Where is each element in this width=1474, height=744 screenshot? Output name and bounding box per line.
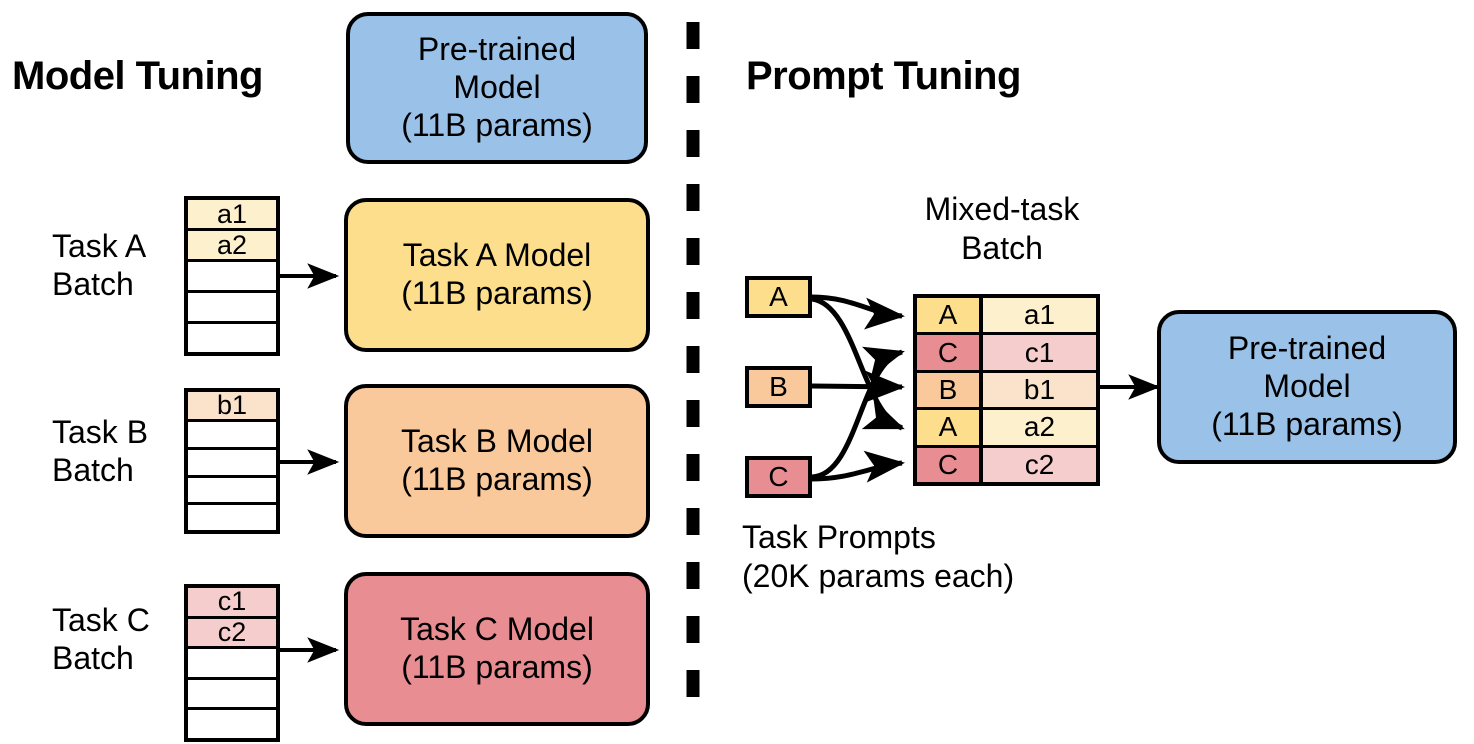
task-c-batch-cell: c2 — [188, 619, 276, 650]
mixed-task-batch-row: C c2 — [917, 448, 1096, 482]
task-a-batch-cell — [188, 293, 276, 324]
task-b-model-box: Task B Model (11B params) — [344, 384, 650, 538]
task-c-batch-cell — [188, 680, 276, 711]
task-b-batch-stack: b1 — [184, 388, 280, 534]
task-b-batch-cell — [188, 505, 276, 530]
task-c-batch-cell — [188, 649, 276, 680]
task-prompt-chip-a-label: A — [769, 283, 788, 311]
task-c-batch-cell: c1 — [188, 588, 276, 619]
mixed-task-batch-row-tag: A — [917, 298, 983, 332]
mixed-task-batch-row-tag: C — [917, 335, 983, 369]
task-c-batch-label-line-2: Batch — [52, 640, 150, 678]
task-b-batch-label-line-2: Batch — [52, 452, 148, 490]
task-b-batch-cell: b1 — [188, 392, 276, 422]
mixed-task-batch-caption-line-2: Batch — [887, 229, 1117, 268]
left-pretrained-model-line-3: (11B params) — [401, 107, 592, 145]
task-b-batch-label-line-1: Task B — [52, 414, 148, 452]
arrow-prompt-c-to-row2 — [812, 352, 902, 477]
arrow-prompt-a-to-row4 — [812, 299, 902, 428]
task-b-batch-cell — [188, 450, 276, 478]
mixed-task-batch-caption: Mixed-task Batch — [887, 190, 1117, 268]
task-c-batch-label-line-1: Task C — [52, 602, 150, 640]
mixed-task-batch-table: A a1 C c1 B b1 A a2 C c2 — [913, 294, 1100, 486]
right-pretrained-model-box: Pre-trained Model (11B params) — [1157, 310, 1457, 464]
task-a-model-line-1: Task A Model — [403, 237, 592, 275]
task-b-batch-cell — [188, 422, 276, 450]
mixed-task-batch-row: A a1 — [917, 298, 1096, 335]
mixed-task-batch-row-value: a1 — [983, 298, 1096, 332]
task-a-model-box: Task A Model (11B params) — [344, 198, 650, 352]
task-prompt-chip-c[interactable]: C — [745, 456, 812, 498]
task-a-batch-label-line-1: Task A — [52, 228, 146, 266]
mixed-task-batch-row-value: a2 — [983, 410, 1096, 444]
mixed-task-batch-caption-line-1: Mixed-task — [887, 190, 1117, 229]
mixed-task-batch-row-tag: A — [917, 410, 983, 444]
task-c-batch-stack: c1 c2 — [184, 584, 280, 742]
task-a-model-line-2: (11B params) — [401, 275, 592, 313]
task-prompts-caption-line-1: Task Prompts — [742, 518, 1014, 557]
mixed-task-batch-row: B b1 — [917, 373, 1096, 410]
left-pretrained-model-line-1: Pre-trained — [418, 31, 576, 69]
right-pretrained-model-line-3: (11B params) — [1211, 406, 1402, 444]
model-tuning-heading: Model Tuning — [12, 56, 263, 96]
task-prompt-chip-c-label: C — [768, 463, 788, 491]
task-prompts-caption: Task Prompts (20K params each) — [742, 518, 1014, 596]
task-c-batch-label: Task C Batch — [52, 602, 150, 678]
task-a-batch-label-line-2: Batch — [52, 266, 146, 304]
task-a-batch-stack: a1 a2 — [184, 196, 280, 356]
mixed-task-batch-row: A a2 — [917, 410, 1096, 447]
arrow-prompt-c-to-row5 — [812, 463, 902, 479]
left-pretrained-model-box: Pre-trained Model (11B params) — [346, 12, 648, 164]
task-a-batch-label: Task A Batch — [52, 228, 146, 304]
task-b-batch-label: Task B Batch — [52, 414, 148, 490]
task-b-batch-cell — [188, 478, 276, 506]
mixed-task-batch-row-value: c2 — [983, 448, 1096, 482]
mixed-task-batch-row-tag: B — [917, 373, 983, 407]
task-a-batch-cell — [188, 324, 276, 352]
task-prompts-caption-line-2: (20K params each) — [742, 557, 1014, 596]
mixed-task-batch-row: C c1 — [917, 335, 1096, 372]
left-pretrained-model-line-2: Model — [453, 69, 540, 107]
task-prompt-chip-a[interactable]: A — [745, 276, 812, 318]
task-c-model-box: Task C Model (11B params) — [344, 572, 650, 726]
task-prompt-chip-b-label: B — [769, 373, 788, 401]
task-b-model-line-1: Task B Model — [401, 423, 593, 461]
diagram-canvas: Model Tuning Pre-trained Model (11B para… — [0, 0, 1474, 744]
task-b-model-line-2: (11B params) — [401, 461, 592, 499]
task-c-batch-cell — [188, 710, 276, 738]
task-a-batch-cell: a1 — [188, 200, 276, 231]
task-a-batch-cell — [188, 262, 276, 293]
prompt-tuning-heading: Prompt Tuning — [746, 56, 1021, 96]
mixed-task-batch-row-value: b1 — [983, 373, 1096, 407]
right-pretrained-model-line-2: Model — [1263, 368, 1350, 406]
arrow-prompt-a-to-row1 — [812, 297, 902, 316]
mixed-task-batch-row-tag: C — [917, 448, 983, 482]
arrow-prompt-b-to-row3 — [812, 386, 902, 387]
task-c-model-line-1: Task C Model — [400, 611, 594, 649]
right-pretrained-model-line-1: Pre-trained — [1228, 330, 1386, 368]
task-a-batch-cell: a2 — [188, 231, 276, 262]
mixed-task-batch-row-value: c1 — [983, 335, 1096, 369]
task-c-model-line-2: (11B params) — [401, 649, 592, 687]
task-prompt-chip-b[interactable]: B — [745, 366, 812, 408]
